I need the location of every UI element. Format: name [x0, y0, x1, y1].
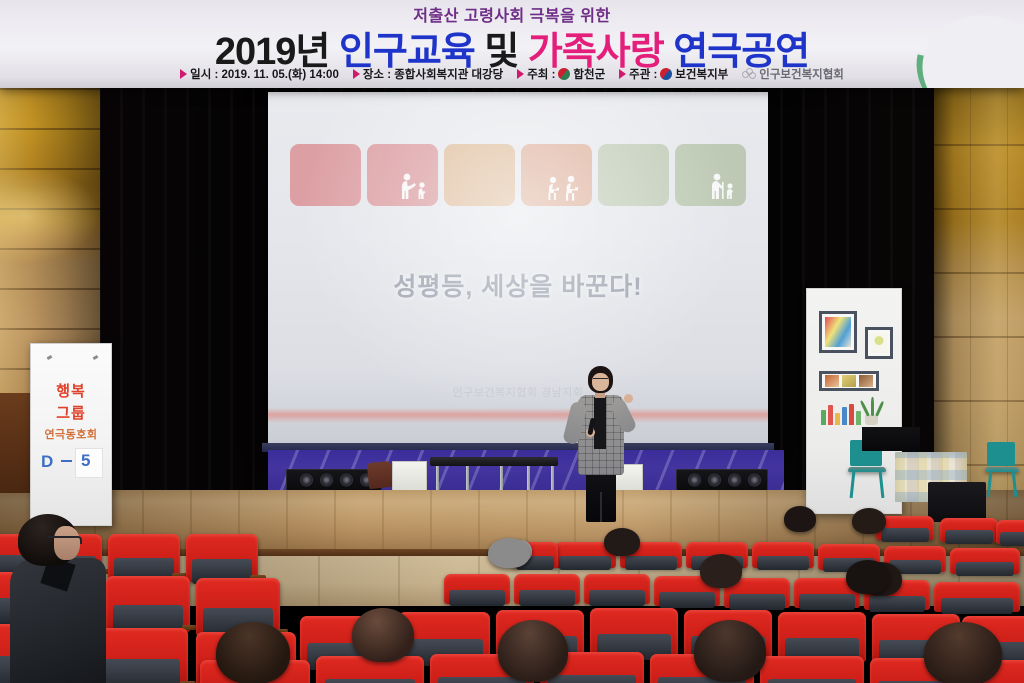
framed-art-abstract [819, 311, 857, 353]
banner-organizer-name: 보건복지부 [675, 66, 728, 82]
attendee-dark-hair-6 [924, 622, 1002, 683]
attendee-brown-hair [352, 608, 414, 662]
table-row[interactable] [444, 574, 510, 604]
stage-table-top [430, 457, 558, 466]
attendee-dark-hair-1 [846, 560, 890, 594]
triptych-panel-3 [859, 375, 873, 387]
table-row[interactable] [940, 518, 998, 542]
sign-screw-right [93, 355, 99, 360]
auditorium-photo-scene: 성평등, 세상을 바꾼다! 인구보건복지협회 경남지회 행복 그룹 연극동호 [0, 0, 1024, 683]
sign-screw-left [47, 355, 53, 360]
club-sign-board: 행복 그룹 연극동호회 D 5 [30, 343, 112, 526]
parent-child-icon [398, 172, 432, 202]
plant-leaf-2 [871, 397, 874, 416]
attendee-dark-hair-2 [700, 554, 742, 588]
triangle-bullet-icon [353, 69, 360, 79]
sign-countdown-dash [61, 460, 72, 462]
book-5 [849, 404, 854, 425]
presenter-hand-right [624, 394, 633, 403]
banner-association-name: 인구보건복지협회 [759, 66, 844, 82]
man-in-suit-with-glasses [4, 516, 114, 683]
book-1 [821, 410, 826, 425]
attendee-grey-hair [488, 538, 530, 568]
presenter-speaker [566, 366, 636, 522]
attendee-long-hair [498, 620, 568, 682]
prop-bag [367, 461, 394, 489]
slide-tile-row [290, 144, 746, 206]
projection-screen-content: 성평등, 세상을 바꾼다! 인구보건복지협회 경남지회 [268, 92, 768, 447]
attendee-dark-hair-5 [852, 508, 886, 534]
book-3 [835, 413, 840, 425]
triangle-bullet-icon [619, 69, 626, 79]
elder-child-icon [706, 172, 740, 202]
slide-tile-2 [367, 144, 438, 206]
table-row[interactable] [186, 534, 258, 582]
presenter-inner-top [594, 397, 606, 449]
banner-date-label: 일시 : 2019. 11. 05.(화) 14:00 [190, 66, 339, 82]
slide-tile-6 [675, 144, 746, 206]
folding-chair-right [985, 442, 1019, 498]
slide-color-band [268, 408, 768, 423]
slide-tile-4 [521, 144, 592, 206]
framed-art-flower [865, 327, 893, 359]
white-prop-box-left [392, 461, 427, 492]
chair-back [987, 442, 1015, 466]
projection-screen: 성평등, 세상을 바꾼다! 인구보건복지협회 경남지회 [268, 92, 768, 447]
banner-organizer-label: 주관 : [629, 66, 657, 82]
art-abstract [825, 317, 851, 347]
book-2 [828, 405, 833, 425]
chair-leg-1 [850, 471, 856, 498]
slide-subtext: 인구보건복지협회 경남지회 [268, 384, 768, 400]
triptych-panel-1 [825, 375, 839, 387]
banner-association-item: 인구보건복지협회 [742, 66, 844, 82]
audience-seating [0, 520, 1024, 683]
table-row[interactable] [778, 612, 866, 662]
shelf-books [821, 403, 861, 425]
dark-equipment-crate [862, 427, 920, 451]
triangle-bullet-icon [180, 69, 187, 79]
two-seated-people-icon [546, 174, 586, 202]
plant-leaf-3 [875, 401, 884, 417]
chair-leg-2 [1012, 471, 1018, 497]
book-6 [856, 411, 861, 425]
presenter-face [592, 373, 609, 391]
attendee-dark-hair-3 [694, 620, 766, 682]
triangle-bullet-icon [517, 69, 524, 79]
banner-host-item: 주최 : 합천군 [517, 66, 605, 82]
banner-place-label: 장소 : 종합사회복지관 대강당 [363, 66, 503, 82]
slide-tile-3 [444, 144, 515, 206]
banner-organizer-item: 주관 : 보건복지부 [619, 66, 728, 82]
glasses-icon [48, 536, 82, 544]
triptych-panel-2 [842, 375, 856, 387]
stage-speaker-right [676, 469, 768, 491]
black-amplifier-case [928, 482, 986, 522]
three-rings-logo-icon [742, 68, 756, 80]
sign-countdown-value: 5 [81, 451, 90, 471]
framed-art-triptych [819, 371, 879, 391]
book-4 [842, 407, 847, 425]
slide-headline: 성평등, 세상을 바꾼다! [268, 267, 768, 303]
table-row[interactable] [760, 656, 864, 683]
event-banner: 저출산 고령사회 극복을 위한 2019년 인구교육 및 가족사랑 연극공연 일… [0, 0, 1024, 88]
banner-place-item: 장소 : 종합사회복지관 대강당 [353, 66, 503, 82]
presenter-glasses-icon [593, 378, 608, 382]
attendee-dark-hair-1 [604, 528, 640, 556]
table-row[interactable] [514, 574, 580, 604]
chair-leg-1 [987, 471, 993, 497]
banner-date-item: 일시 : 2019. 11. 05.(화) 14:00 [180, 66, 339, 82]
slide-tile-1 [290, 144, 361, 206]
banner-info-row: 일시 : 2019. 11. 05.(화) 14:00 장소 : 종합사회복지관… [0, 66, 1024, 82]
chair-leg-2 [879, 471, 885, 498]
table-row[interactable] [996, 520, 1024, 544]
hapcheon-emblem-icon [558, 68, 570, 80]
table-row[interactable] [106, 576, 190, 632]
table-row[interactable] [950, 548, 1020, 574]
sign-line-2: 그룹 [31, 402, 111, 423]
table-row[interactable] [934, 582, 1020, 612]
sign-line-3: 연극동호회 [31, 426, 111, 442]
table-row[interactable] [590, 608, 678, 658]
banner-host-label: 주최 : [527, 66, 555, 82]
sign-line-1: 행복 [31, 380, 111, 401]
table-row[interactable] [584, 574, 650, 604]
table-row[interactable] [108, 534, 180, 580]
attendee-dark-hair-2 [216, 622, 290, 683]
slide-tile-5 [598, 144, 669, 206]
presenter-leg-split [600, 492, 602, 522]
attendee-dark-hair-4 [784, 506, 816, 532]
sign-countdown-prefix: D [41, 452, 53, 472]
banner-host-name: 합천군 [573, 66, 605, 82]
table-row[interactable] [752, 542, 814, 568]
art-flower [871, 333, 887, 353]
taeguk-emblem-icon [660, 68, 672, 80]
